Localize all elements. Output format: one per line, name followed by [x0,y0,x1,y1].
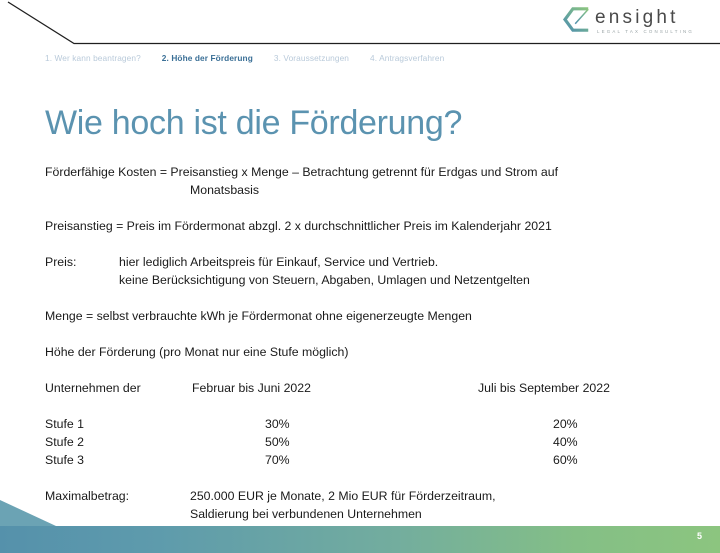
table-header-row: Unternehmen der Februar bis Juni 2022 Ju… [45,379,685,397]
foerderstufen-table: Unternehmen der Februar bis Juni 2022 Ju… [45,379,685,469]
preis-label: Preis: [45,253,119,271]
table-cell-stufe-3-jul-sep: 60% [478,451,678,469]
preis-line-2: keine Berücksichtigung von Steuern, Abga… [119,271,685,289]
page-number: 5 [697,531,702,541]
paragraph-preis: Preis: hier lediglich Arbeitspreis für E… [45,253,685,289]
foerderfaehige-kosten-line-1: Förderfähige Kosten = Preisanstieg x Men… [45,163,685,181]
paragraph-hoehe-der-foerderung: Höhe der Förderung (pro Monat nur eine S… [45,343,685,361]
section-nav: 1. Wer kann beantragen? 2. Höhe der Förd… [45,53,465,63]
nav-item-wer-kann-beantragen[interactable]: 1. Wer kann beantragen? [45,53,141,63]
page-title: Wie hoch ist die Förderung? [45,103,462,143]
table-row: Stufe 2 50% 40% [45,433,685,451]
paragraph-foerderfaehige-kosten: Förderfähige Kosten = Preisanstieg x Men… [45,163,685,199]
footer-gradient-bar: 5 [0,526,720,553]
nav-item-antragsverfahren[interactable]: 4. Antragsverfahren [370,53,444,63]
table-header-februar-juni: Februar bis Juni 2022 [192,379,478,397]
table-cell-stufe-1-jul-sep: 20% [478,415,678,433]
footer-notch-decoration [0,500,56,526]
table-row: Stufe 3 70% 60% [45,451,685,469]
table-bottom-gap [45,469,685,487]
maximalbetrag-row-2: Saldierung bei verbundenen Unternehmen [45,505,685,523]
maximalbetrag-line-2: Saldierung bei verbundenen Unternehmen [190,505,685,523]
table-cell-stufe-1-feb-jun: 30% [192,415,478,433]
table-row: Stufe 1 30% 20% [45,415,685,433]
paragraph-menge: Menge = selbst verbrauchte kWh je Förder… [45,307,685,325]
table-cell-stufe-1: Stufe 1 [45,415,192,433]
preis-line-1: hier lediglich Arbeitspreis für Einkauf,… [119,253,685,271]
table-cell-stufe-3-feb-jun: 70% [192,451,478,469]
ensight-hexagon-logo-icon [563,6,593,33]
logo-tagline: LEGAL TAX CONSULTING [595,28,694,35]
nav-item-voraussetzungen[interactable]: 3. Voraussetzungen [274,53,349,63]
maximalbetrag-line-1: 250.000 EUR je Monate, 2 Mio EUR für För… [190,487,685,505]
table-cell-stufe-2-jul-sep: 40% [478,433,678,451]
maximalbetrag-label: Maximalbetrag: [45,487,190,505]
menge-line: Menge = selbst verbrauchte kWh je Förder… [45,307,685,325]
table-header-unternehmen: Unternehmen der [45,379,192,397]
nav-item-hoehe-der-foerderung[interactable]: 2. Höhe der Förderung [162,53,253,63]
foerderfaehige-kosten-line-2: Monatsbasis [45,181,685,199]
slide-body: Förderfähige Kosten = Preisanstieg x Men… [45,163,685,523]
table-cell-stufe-2-feb-jun: 50% [192,433,478,451]
preis-row-2: keine Berücksichtigung von Steuern, Abga… [45,271,685,289]
hoehe-der-foerderung-line: Höhe der Förderung (pro Monat nur eine S… [45,343,685,361]
table-header-gap [45,397,685,415]
table-cell-stufe-2: Stufe 2 [45,433,192,451]
paragraph-preisanstieg: Preisanstieg = Preis im Fördermonat abzg… [45,217,685,235]
slide-header: ensight LEGAL TAX CONSULTING [0,0,720,46]
table-cell-stufe-3: Stufe 3 [45,451,192,469]
preisanstieg-line: Preisanstieg = Preis im Fördermonat abzg… [45,217,685,235]
table-header-juli-september: Juli bis September 2022 [478,379,678,397]
logo-wordmark: ensight [595,8,694,28]
preis-row-1: Preis: hier lediglich Arbeitspreis für E… [45,253,685,271]
paragraph-maximalbetrag: Maximalbetrag: 250.000 EUR je Monate, 2 … [45,487,685,523]
brand-logo: ensight LEGAL TAX CONSULTING [563,6,694,35]
maximalbetrag-row-1: Maximalbetrag: 250.000 EUR je Monate, 2 … [45,487,685,505]
